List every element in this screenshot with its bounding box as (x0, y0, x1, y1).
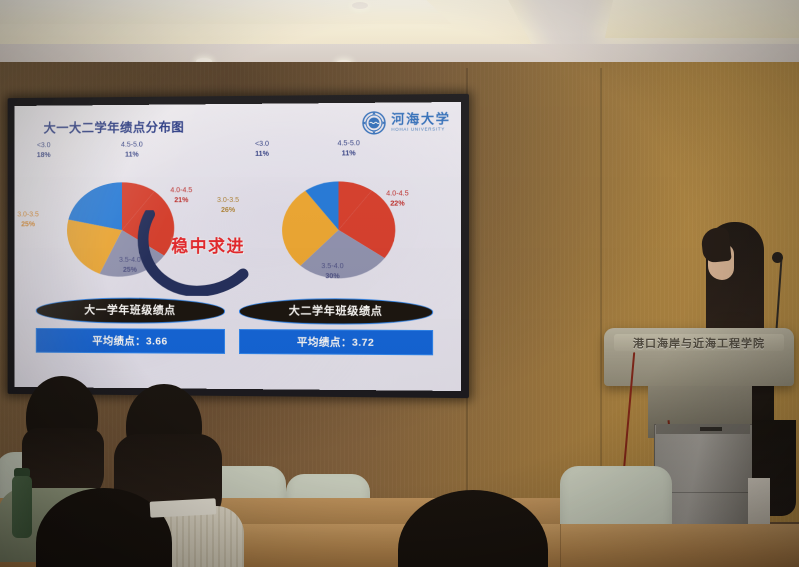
person-head (398, 490, 548, 567)
audience-person-foreground-left (36, 488, 172, 567)
pie-label-35-40: 3.5-4.030% (321, 262, 343, 281)
summary-box-sophomore: 大二学年班级绩点 平均绩点：3.72 (239, 298, 433, 355)
freshman-box-value: 平均绩点：3.66 (36, 328, 225, 354)
pie-label-45-50: 4.5-5.011% (121, 141, 143, 160)
freshman-box-title: 大一学年班级绩点 (36, 297, 225, 324)
pie-chart-sophomore: <3.011% 4.5-5.011% 4.0-4.522% 3.5-4.030%… (233, 139, 445, 301)
table-seam (560, 524, 561, 567)
summary-boxes: 大一学年班级绩点 平均绩点：3.66 大二学年班级绩点 平均绩点：3.72 (36, 297, 439, 355)
presenter-hair-front (700, 227, 731, 264)
pie-label-40-45: 4.0-4.522% (386, 189, 409, 208)
logo-chinese-name: 河海大学 (391, 113, 450, 127)
pie-chart-freshman: <3.018% 4.5-5.011% 4.0-4.521% 3.5-4.025%… (19, 140, 226, 300)
pie-chart-area: <3.018% 4.5-5.011% 4.0-4.521% 3.5-4.025%… (14, 139, 460, 301)
logo-english-name: HOHAI UNIVERSITY (391, 128, 450, 133)
audience-person-foreground-right (398, 490, 548, 567)
summary-box-freshman: 大一学年班级绩点 平均绩点：3.66 (36, 297, 225, 354)
pie-label-40-45: 4.0-4.521% (170, 186, 192, 205)
downlight-icon (352, 2, 368, 9)
sophomore-box-title: 大二学年班级绩点 (239, 298, 433, 325)
slide-title: 大一大二学年绩点分布图 (44, 116, 185, 136)
cabinet-label (700, 427, 722, 431)
slide-motto: 稳中求进 (171, 232, 245, 257)
podium-nameplate-text: 港口海岸与近海工程学院 (633, 335, 765, 351)
wall-seam (600, 68, 602, 508)
hohai-seal-icon (362, 111, 386, 135)
podium-nameplate: 港口海岸与近海工程学院 (614, 334, 784, 351)
microphone-icon (772, 252, 783, 263)
ceiling-light-panel-left (0, 0, 452, 24)
presentation-screen[interactable]: 大一大二学年绩点分布图 河海大学 HOHAI UNIVERSITY (14, 102, 460, 391)
pie-label-35-40: 3.5-4.025% (119, 256, 141, 275)
water-bottle (12, 476, 32, 538)
person-head (36, 488, 172, 567)
university-logo: 河海大学 HOHAI UNIVERSITY (362, 110, 451, 135)
sophomore-box-value: 平均绩点：3.72 (239, 329, 433, 355)
pie-label-30-35: 3.0-3.526% (217, 196, 239, 215)
ceiling-light-cove-right (605, 0, 799, 38)
pie-label-45-50: 4.5-5.011% (337, 139, 359, 158)
pie-label-lt3: <3.018% (37, 141, 51, 160)
ceiling-light-cove-left (0, 0, 535, 50)
lecture-room-photo: 大一大二学年绩点分布图 河海大学 HOHAI UNIVERSITY (0, 0, 799, 567)
pie-label-lt3: <3.011% (255, 140, 269, 159)
pie-label-30-35: 3.0-3.525% (17, 210, 38, 229)
